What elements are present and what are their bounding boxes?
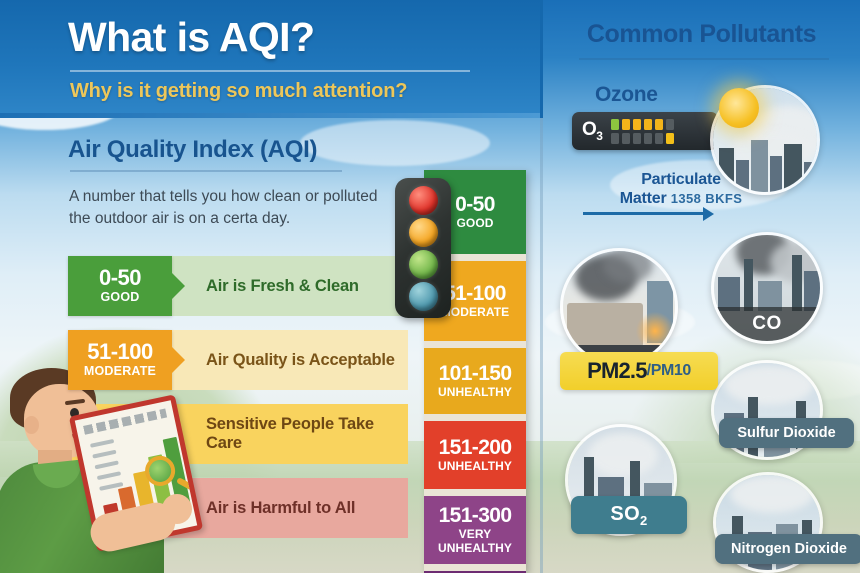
header: What is AQI? Why is it getting so much a… (0, 0, 540, 118)
scale-segment: 151-200UNHEALTHY (424, 421, 526, 489)
scale-segment-level: GOOD (456, 216, 493, 230)
scale-gap (424, 489, 526, 496)
smoke-decor (724, 365, 814, 405)
scale-segment-range: 151-200 (439, 437, 512, 459)
common-pollutants-panel: Common Pollutants Ozone O3 Particulate M… (543, 0, 860, 573)
aqi-band-row: 51-100MODERATEAir Quality is Acceptable (68, 330, 408, 390)
aqi-band-level: MODERATE (84, 363, 156, 380)
scale-segment-level: VERY UNHEALTHY (424, 527, 526, 556)
aqi-band-range: 51-100 (87, 341, 153, 363)
aqi-band-level: GOOD (101, 289, 140, 306)
co-label-band: CO (714, 307, 820, 341)
aqi-band-range: 0-50 (99, 267, 141, 289)
infographic-poster: What is AQI? Why is it getting so much a… (0, 0, 860, 573)
scale-segment-level: UNHEALTHY (438, 385, 512, 399)
pm25-pm10-label: PM2.5/PM10 (560, 352, 718, 390)
cloud-decor (300, 120, 490, 166)
aqi-band-chip: 0-50GOOD (68, 256, 172, 316)
chimney-shape (792, 255, 802, 311)
traffic-light-lamp-blue (409, 282, 438, 311)
traffic-light (395, 178, 451, 318)
aqi-description: A number that tells you how clean or pol… (69, 186, 389, 231)
chimney-shape (744, 259, 753, 311)
nitrogen-dioxide-label: Nitrogen Dioxide (731, 541, 847, 557)
sulfur-dioxide-label: Sulfur Dioxide (737, 425, 835, 441)
traffic-light-lamp-red (409, 186, 438, 215)
scale-gap (424, 341, 526, 348)
so2-label: SO2 (610, 503, 647, 528)
aqi-band-row: 0-50GOODAir is Fresh & Clean (68, 256, 408, 316)
scale-gap (424, 564, 526, 571)
ozone-meter-chip: O3 (572, 112, 718, 150)
nitrogen-dioxide-label-pill: Nitrogen Dioxide (715, 534, 860, 564)
photo-co-factory: CO (711, 232, 823, 344)
smoke-decor (730, 475, 814, 513)
co-label: CO (752, 313, 782, 335)
pollutants-title: Common Pollutants (543, 20, 860, 49)
building-shape (719, 148, 734, 192)
pollutants-divider (579, 58, 829, 60)
scale-segment-level: MODERATE (441, 305, 510, 319)
man-illustration (0, 362, 214, 573)
pm25-text: PM2.5 (587, 358, 647, 384)
building-shape (784, 144, 802, 192)
page-subtitle: Why is it getting so much attention? (70, 80, 407, 103)
scale-gap (424, 414, 526, 421)
scale-segment: 151-300VERY UNHEALTHY (424, 496, 526, 564)
smoke-decor (588, 433, 658, 477)
sun-icon (719, 88, 759, 128)
title-divider (70, 70, 470, 72)
ozone-led-meter (611, 119, 674, 144)
smoke-decor (603, 248, 653, 283)
pm10-text: /PM10 (647, 362, 691, 380)
building-shape (770, 156, 782, 192)
so2-label-pill: SO2 (571, 496, 687, 534)
man-hand (162, 494, 192, 524)
building-shape (751, 140, 768, 192)
scale-segment-range: 151-300 (439, 505, 512, 527)
man-ear (24, 416, 39, 434)
scale-segment-range: 51-100 (444, 283, 506, 305)
scale-segment-level: UNHEALTHY (438, 459, 512, 473)
building-shape (804, 271, 823, 311)
photo-pm25-source (560, 248, 678, 366)
ozone-label: Ozone (595, 83, 658, 107)
particulate-garbled-text: 1358 BKFS (671, 191, 743, 206)
scale-segment-range: 0-50 (455, 194, 495, 216)
page-title: What is AQI? (68, 14, 314, 61)
building-shape (718, 277, 740, 311)
aqi-band-chip: 51-100MODERATE (68, 330, 172, 390)
building-shape (804, 162, 818, 192)
scale-segment-range: 101-150 (439, 363, 512, 385)
building-shape (736, 160, 749, 192)
aqi-band-message: Air is Fresh & Clean (172, 256, 408, 316)
traffic-light-lamp-amber (409, 218, 438, 247)
sulfur-dioxide-label-pill: Sulfur Dioxide (719, 418, 854, 448)
section-divider (70, 170, 342, 172)
section-title-aqi: Air Quality Index (AQI) (68, 136, 317, 164)
industrial-shape (567, 303, 643, 347)
clipboard-title-text (83, 409, 167, 435)
o3-formula: O3 (582, 119, 602, 143)
scale-segment: 101-150UNHEALTHY (424, 348, 526, 414)
arrow-icon (583, 212, 705, 215)
traffic-light-lamp-green (409, 250, 438, 279)
